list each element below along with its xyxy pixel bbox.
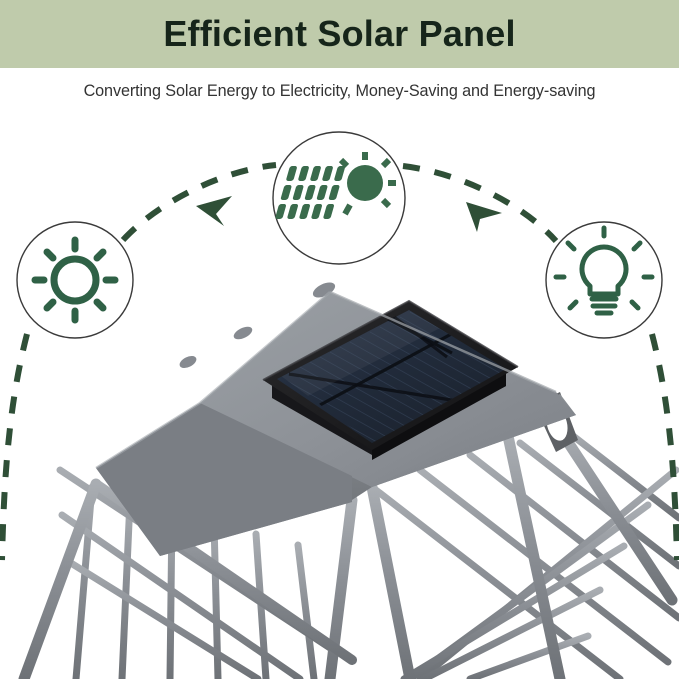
flow-step-solar-panel[interactable]	[273, 132, 405, 264]
flow-arrow-center-to-right	[403, 166, 556, 241]
solar-sun-disc	[347, 165, 383, 201]
flow-step-light-bulb[interactable]	[546, 222, 662, 338]
flow-arrow-left-to-center	[123, 165, 276, 240]
flow-arrowhead-right	[466, 202, 502, 232]
process-flow-diagram	[0, 0, 679, 679]
flow-step-sun[interactable]	[17, 222, 133, 338]
flow-arc-left-outer	[2, 334, 27, 560]
flow-arc-right-outer	[652, 334, 677, 560]
light-bulb-step-circle	[546, 222, 662, 338]
solar-panel-infographic: Efficient Solar Panel Converting Solar E…	[0, 0, 679, 679]
flow-arrowhead-left	[196, 196, 232, 226]
